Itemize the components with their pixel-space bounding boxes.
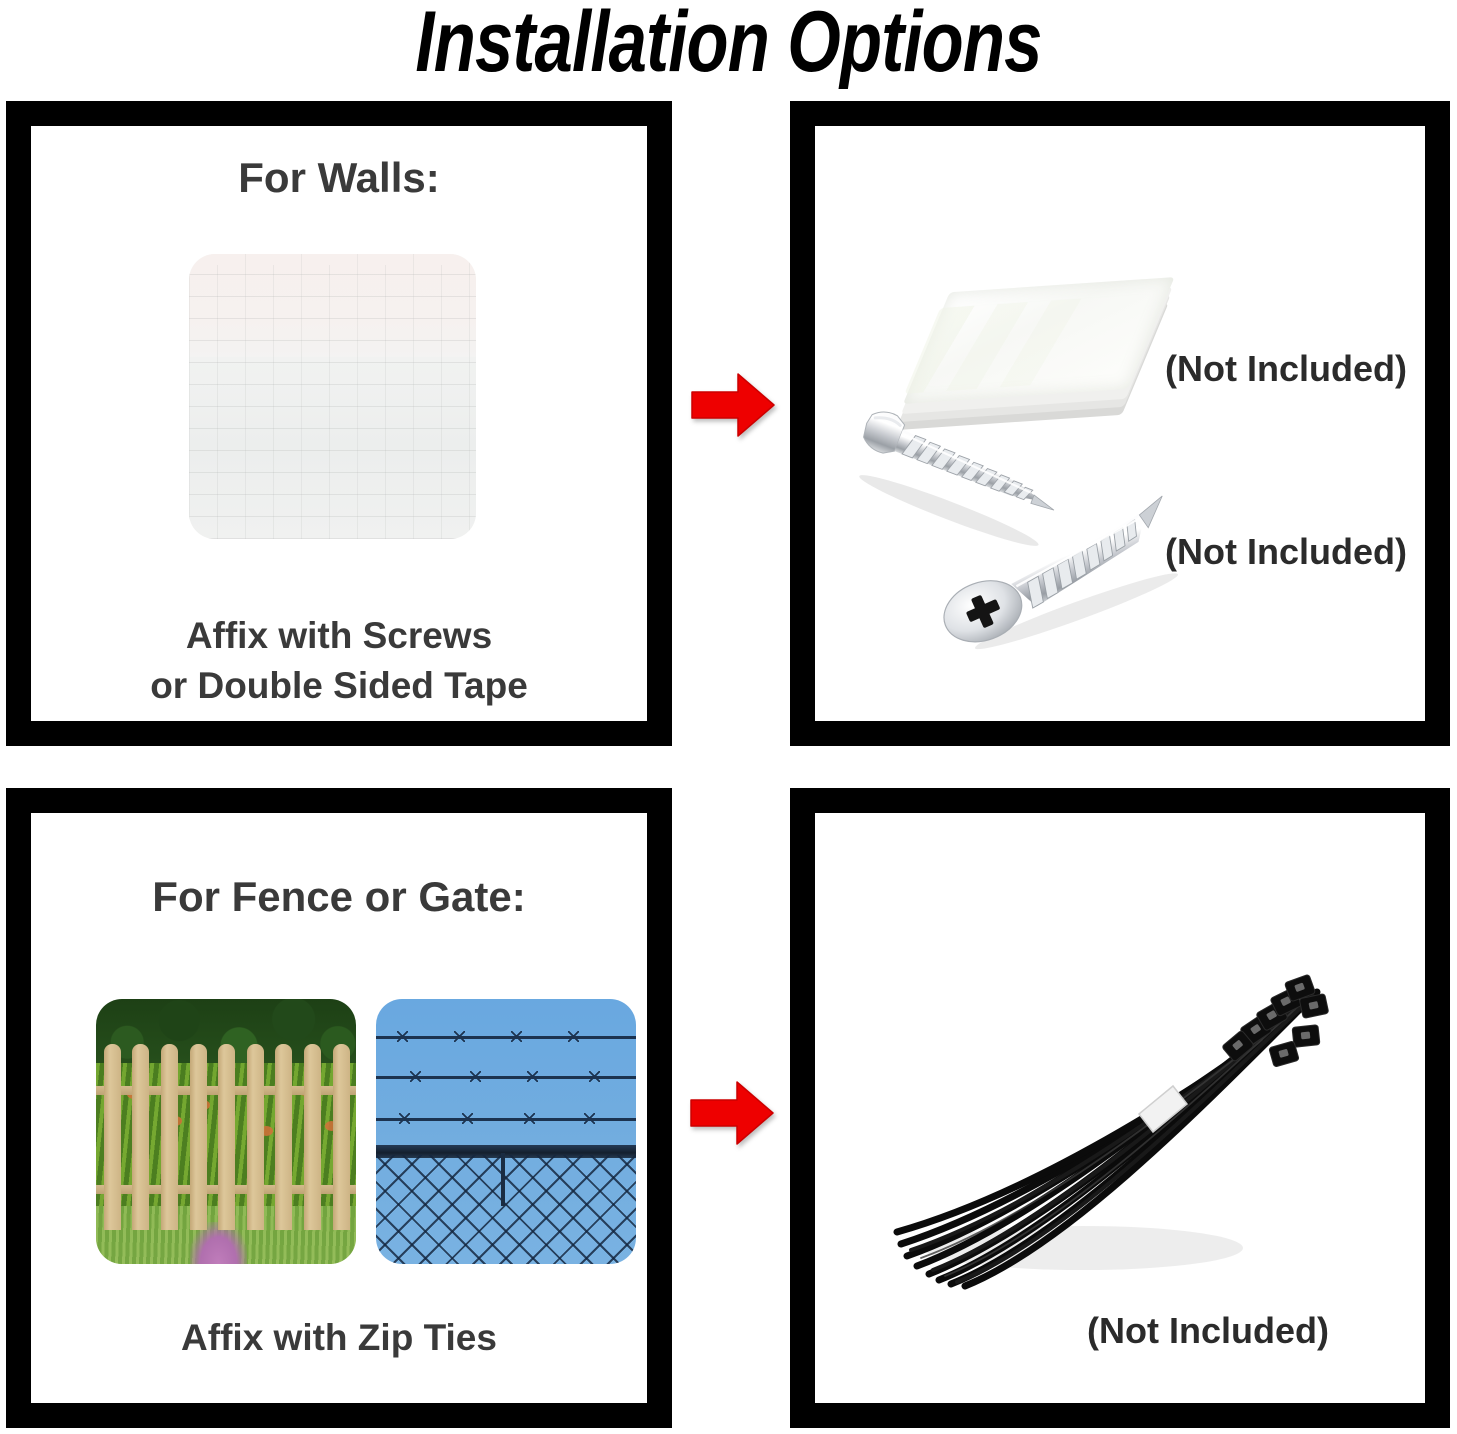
barb-knot-2d bbox=[589, 1071, 600, 1082]
fence-picket-7 bbox=[275, 1044, 292, 1230]
fence-post bbox=[501, 1153, 505, 1206]
barbed-wire-strand-3 bbox=[376, 1118, 636, 1121]
double-sided-tape-stack-image bbox=[885, 254, 1175, 434]
wall-brick-texture-offset bbox=[217, 265, 476, 539]
panel-for-fence-or-gate: For Fence or Gate: bbox=[6, 788, 672, 1428]
screws-not-included-label: (Not Included) bbox=[1165, 531, 1407, 573]
fence-picket-3 bbox=[161, 1044, 178, 1230]
wooden-picket-fence-photo bbox=[96, 999, 356, 1264]
page-title: Installation Options bbox=[146, 0, 1312, 90]
black-zip-ties-bundle-image bbox=[873, 918, 1353, 1318]
panel-for-walls: For Walls: Affix with Screws or Double S… bbox=[6, 101, 672, 746]
barb-knot-2c bbox=[527, 1071, 538, 1082]
barbed-wire-chain-link-fence-photo bbox=[376, 999, 636, 1264]
panel-fence-hardware: (Not Included) bbox=[790, 788, 1450, 1428]
panel-walls-caption: Affix with Screws or Double Sided Tape bbox=[31, 611, 647, 712]
barbed-wire-strand-1 bbox=[376, 1036, 636, 1039]
barb-knot-1c bbox=[511, 1031, 522, 1042]
fence-picket-6 bbox=[247, 1044, 264, 1230]
barb-knot-3d bbox=[584, 1113, 595, 1124]
red-right-arrow-icon-walls bbox=[690, 371, 776, 439]
zip-ties-not-included-label: (Not Included) bbox=[1087, 1310, 1329, 1352]
barb-knot-3b bbox=[462, 1113, 473, 1124]
fence-picket-5 bbox=[218, 1044, 235, 1230]
barb-knot-2a bbox=[410, 1071, 421, 1082]
panel-wall-hardware: (Not Included) bbox=[790, 101, 1450, 746]
panel-walls-caption-line2: or Double Sided Tape bbox=[31, 661, 647, 711]
chain-link-mesh bbox=[376, 1155, 636, 1264]
panel-walls-caption-line1: Affix with Screws bbox=[31, 611, 647, 661]
barb-knot-1a bbox=[397, 1031, 408, 1042]
installation-options-infographic: Installation Options For Walls: Affix wi… bbox=[0, 0, 1457, 1434]
fence-picket-1 bbox=[104, 1044, 121, 1230]
fence-picket-8 bbox=[304, 1044, 321, 1230]
barb-knot-3c bbox=[524, 1113, 535, 1124]
fence-picket-4 bbox=[190, 1044, 207, 1230]
barb-knot-2b bbox=[470, 1071, 481, 1082]
panel-walls-heading: For Walls: bbox=[31, 154, 647, 202]
white-brick-wall-photo bbox=[189, 254, 476, 539]
fence-picket-9 bbox=[333, 1044, 350, 1230]
red-right-arrow-icon-fence bbox=[689, 1079, 775, 1147]
tape-not-included-label: (Not Included) bbox=[1165, 348, 1407, 390]
barb-knot-1d bbox=[568, 1031, 579, 1042]
panel-fence-heading: For Fence or Gate: bbox=[31, 873, 647, 921]
fence-picket-2 bbox=[132, 1044, 149, 1230]
barb-knot-1b bbox=[454, 1031, 465, 1042]
panel-fence-caption: Affix with Zip Ties bbox=[31, 1313, 647, 1363]
barb-knot-3a bbox=[399, 1113, 410, 1124]
